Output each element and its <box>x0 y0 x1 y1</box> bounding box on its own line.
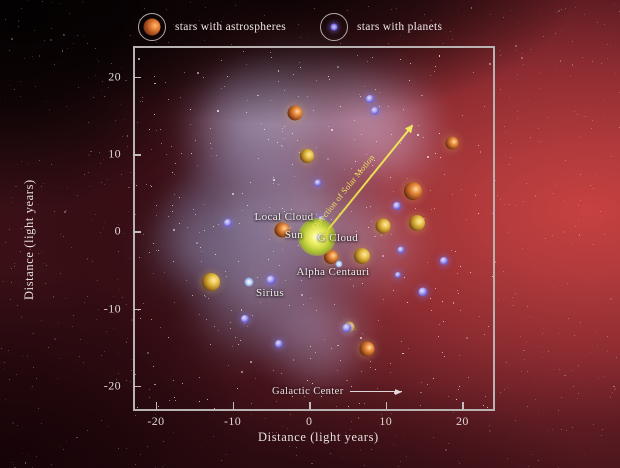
y-tick-label: -10 <box>104 301 121 316</box>
astrosphere-star-marker <box>409 215 425 231</box>
astrosphere-star-marker <box>354 248 370 264</box>
plot-frame-right <box>493 46 495 411</box>
y-tick <box>133 77 141 78</box>
planet-star-marker <box>266 276 275 285</box>
legend-label-planets: stars with planets <box>357 21 442 33</box>
planet-star-marker <box>366 95 374 103</box>
astrosphere-star-marker <box>287 106 302 121</box>
x-axis-line <box>133 409 495 411</box>
y-tick <box>133 309 141 310</box>
planet-star-marker <box>275 340 283 348</box>
interstellar-map-figure: Direction of Solar Motion Local Cloud Su… <box>0 0 620 468</box>
planet-star-marker <box>440 257 448 265</box>
x-tick <box>233 402 234 410</box>
planet-star-marker <box>343 323 352 332</box>
astrosphere-star-marker <box>359 341 374 356</box>
astrosphere-star-marker <box>300 149 314 163</box>
y-tick-label: 20 <box>108 69 121 84</box>
plot-frame-top <box>133 46 495 48</box>
x-tick-label: -20 <box>147 414 164 429</box>
x-tick <box>156 402 157 410</box>
label-g-cloud: G Cloud <box>318 232 358 244</box>
y-tick <box>133 231 141 232</box>
y-axis-line <box>133 46 135 411</box>
label-alpha-centauri: Alpha Centauri <box>296 266 369 278</box>
x-tick-label: 20 <box>456 414 469 429</box>
x-tick <box>309 402 310 410</box>
y-tick <box>133 386 141 387</box>
y-tick-label: -20 <box>104 378 121 393</box>
planet-star-marker <box>371 107 379 115</box>
planet-star-marker <box>393 202 401 210</box>
legend-item-astrospheres[interactable]: stars with astrospheres <box>138 13 286 41</box>
x-tick <box>462 402 463 410</box>
label-local-cloud: Local Cloud <box>254 211 313 223</box>
galactic-center-label: Galactic Center <box>272 386 344 397</box>
y-tick-label: 0 <box>115 224 121 239</box>
planet-star-marker <box>395 272 401 278</box>
label-sun: Sun <box>285 229 303 241</box>
x-tick-label: 0 <box>306 414 312 429</box>
label-sirius: Sirius <box>256 287 284 299</box>
legend-item-planets[interactable]: stars with planets <box>320 13 442 41</box>
planet-star-marker <box>241 315 249 323</box>
bright-star-marker <box>244 278 253 287</box>
planet-star-marker <box>224 219 232 227</box>
y-tick-label: 10 <box>108 147 121 162</box>
planet-dot-icon <box>320 13 348 41</box>
x-tick-label: 10 <box>379 414 392 429</box>
y-tick <box>133 154 141 155</box>
astrosphere-star-marker <box>202 273 220 291</box>
astrosphere-sphere-icon <box>138 13 166 41</box>
x-tick-label: -10 <box>224 414 241 429</box>
planet-star-marker <box>398 246 405 253</box>
legend-label-astrospheres: stars with astrospheres <box>175 21 286 33</box>
planet-star-marker <box>314 179 321 186</box>
y-axis-title: Distance (light years) <box>22 179 37 300</box>
astrosphere-star-marker <box>375 218 390 233</box>
astrosphere-star-marker <box>404 182 422 200</box>
planet-star-marker <box>418 287 427 296</box>
x-axis-title: Distance (light years) <box>258 430 379 445</box>
x-tick <box>386 402 387 410</box>
galactic-center-annotation: Galactic Center <box>272 386 402 397</box>
legend: stars with astrospheres stars with plane… <box>138 13 442 41</box>
galactic-center-arrow-icon <box>350 387 402 396</box>
astrosphere-star-marker <box>446 137 459 150</box>
